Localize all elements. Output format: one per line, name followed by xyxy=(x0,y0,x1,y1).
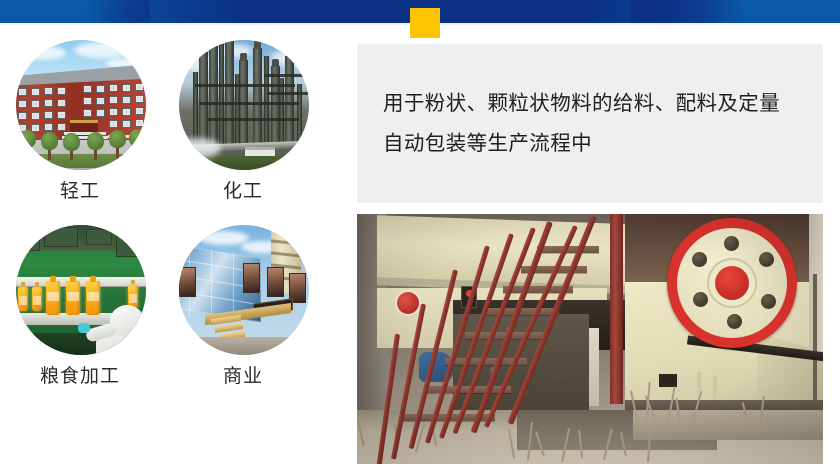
card-label-commerce: 商业 xyxy=(163,365,323,389)
jaw-crusher-with-red-stairs-photo xyxy=(357,214,823,464)
description-text: 用于粉状、颗粒状物料的给料、配料及定量自动包装等生产流程中 xyxy=(383,84,797,164)
banner-diagonal-right xyxy=(630,0,840,23)
application-industry-cards: 轻工 xyxy=(0,38,340,418)
commercial-building-photo xyxy=(179,225,309,355)
card-label-grain-processing: 粮食加工 xyxy=(0,365,160,389)
yellow-accent-square xyxy=(410,8,440,38)
page-root: 轻工 xyxy=(0,0,840,464)
card-label-light-industry: 轻工 xyxy=(0,180,160,204)
chemical-plant-photo xyxy=(179,40,309,170)
card-label-chemical-industry: 化工 xyxy=(163,180,323,204)
card-light-industry[interactable]: 轻工 xyxy=(0,38,160,213)
card-grain-processing[interactable]: 粮食加工 xyxy=(0,223,160,398)
card-chemical-industry[interactable]: 化工 xyxy=(163,38,323,213)
card-commerce[interactable]: 商业 xyxy=(163,223,323,398)
grain-processing-photo xyxy=(16,225,146,355)
light-industry-building-photo xyxy=(16,40,146,170)
banner-diagonal-mid-left xyxy=(150,0,280,23)
description-panel: 用于粉状、颗粒状物料的给料、配料及定量自动包装等生产流程中 xyxy=(357,44,823,203)
